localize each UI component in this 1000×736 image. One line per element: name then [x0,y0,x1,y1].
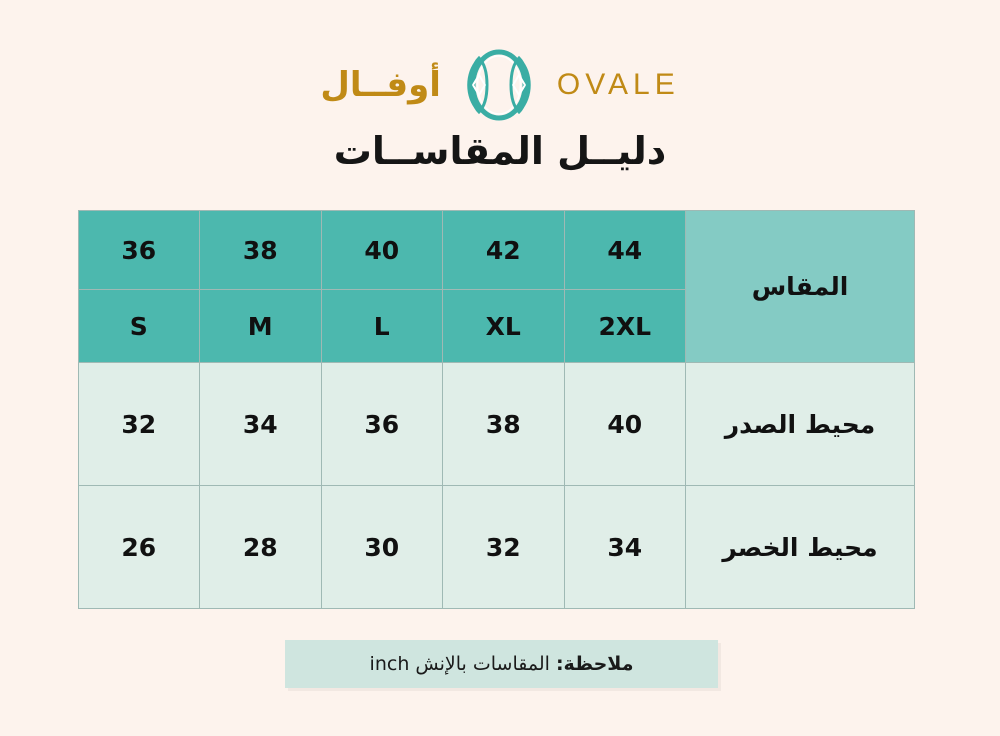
numeric-size-cell: 44 [564,211,686,290]
alpha-size-cell: 2XL [564,290,686,363]
measurement-cell: 36 [321,363,443,486]
brand-arabic-wordmark: أوفــال [320,68,441,102]
note-box: ملاحظة: المقاسات بالإنش inch [285,640,718,688]
numeric-size-cell: 40 [321,211,443,290]
numeric-size-cell: 38 [200,211,322,290]
alpha-size-cell: S [78,290,200,363]
measurement-cell: 34 [564,486,686,609]
measurement-row-label: محيط الخصر [686,486,915,609]
alpha-size-cell: M [200,290,322,363]
table-row: محيط الخصر 34 32 30 28 26 [78,486,915,609]
measurement-cell: 32 [443,486,565,609]
numeric-size-cell: 42 [443,211,565,290]
measurement-cell: 32 [78,363,200,486]
brand-header: OVALE أوفــال [0,48,1000,122]
ovale-oval-logo-icon [463,48,535,122]
measurement-cell: 34 [200,363,322,486]
table-row-numeric-sizes: المقاس 44 42 40 38 36 [78,211,915,290]
alpha-size-cell: L [321,290,443,363]
measurement-cell: 30 [321,486,443,609]
size-guide-table: المقاس 44 42 40 38 36 2XL XL L M S محيط … [78,210,916,609]
note-body: المقاسات بالإنش inch [370,653,556,675]
table-row: محيط الصدر 40 38 36 34 32 [78,363,915,486]
table-header-size-label: المقاس [686,211,915,363]
page-title: دليــل المقاســات [0,128,1000,176]
measurement-cell: 28 [200,486,322,609]
brand-latin-wordmark: OVALE [557,70,680,100]
note-text: ملاحظة: المقاسات بالإنش inch [370,653,634,675]
alpha-size-cell: XL [443,290,565,363]
measurement-cell: 40 [564,363,686,486]
numeric-size-cell: 36 [78,211,200,290]
note-label: ملاحظة: [556,653,634,675]
measurement-cell: 26 [78,486,200,609]
measurement-cell: 38 [443,363,565,486]
size-guide-table-wrapper: المقاس 44 42 40 38 36 2XL XL L M S محيط … [85,210,915,602]
measurement-row-label: محيط الصدر [686,363,915,486]
